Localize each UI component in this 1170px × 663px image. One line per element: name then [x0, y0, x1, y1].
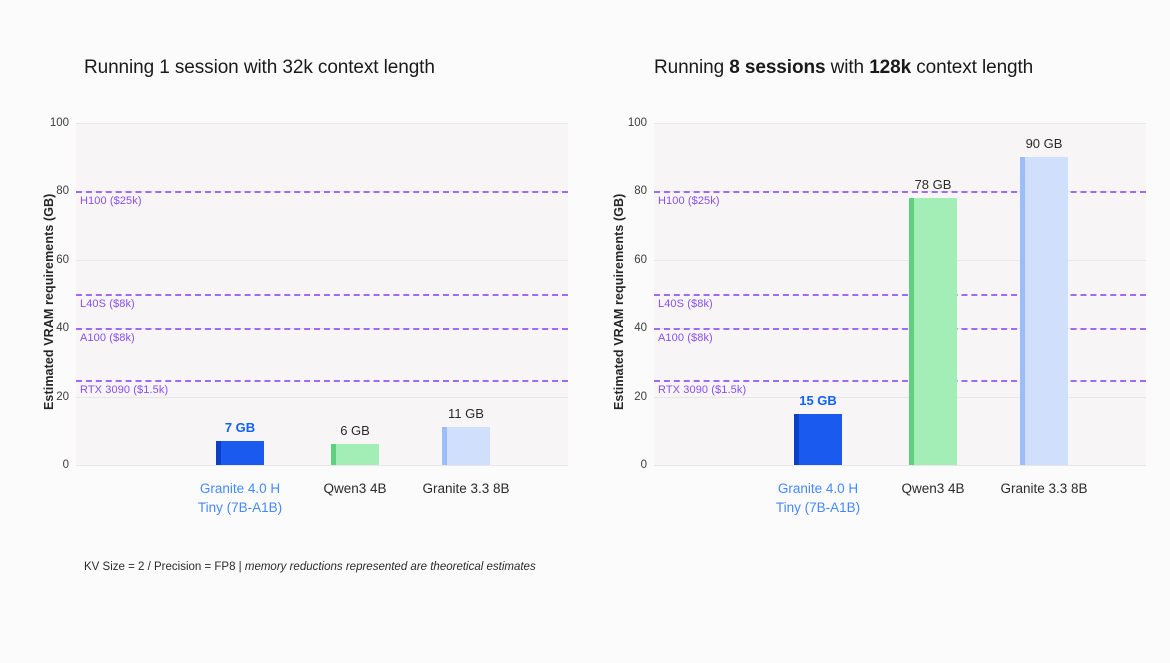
reference-line-label: A100 ($8k) [658, 332, 713, 344]
x-axis-category-line: Qwen3 4B [323, 481, 386, 496]
y-axis-tick: 60 [634, 254, 647, 266]
reference-line [76, 294, 568, 296]
footnote-italic: memory reductions represented are theore… [245, 561, 536, 573]
bar-fill [442, 427, 490, 465]
y-axis-label-right: Estimated VRAM requirements (GB) [612, 194, 626, 410]
x-axis-category-label: Granite 3.3 8B [1000, 479, 1087, 498]
reference-line-label: RTX 3090 ($1.5k) [80, 384, 168, 396]
gridline: 0 [76, 465, 568, 466]
x-axis-category-label: Granite 4.0 HTiny (7B-A1B) [198, 479, 282, 517]
x-axis-category-label: Qwen3 4B [323, 479, 386, 498]
plot-area-left: 020406080100H100 ($25k)L40S ($8k)A100 ($… [76, 123, 568, 465]
bar-value-label: 11 GB [448, 406, 484, 421]
bar-3[interactable]: 90 GBGranite 3.3 8B [1020, 157, 1068, 465]
gridline: 0 [654, 465, 1146, 466]
chart-title-text: 1 session [159, 57, 238, 78]
chart-title-left: Running 1 session with 32k context lengt… [84, 57, 435, 79]
x-axis-category-label: Granite 4.0 HTiny (7B-A1B) [776, 479, 860, 517]
y-axis-tick: 0 [641, 459, 647, 471]
reference-line-label: H100 ($25k) [80, 195, 142, 207]
chart-title-text: with [825, 57, 869, 78]
x-axis-category-line: Granite 3.3 8B [422, 481, 509, 496]
bar-value-label: 78 GB [915, 177, 952, 192]
bar-2[interactable]: 78 GBQwen3 4B [909, 198, 957, 465]
bar-fill [331, 444, 379, 465]
bar-value-label: 90 GB [1026, 136, 1063, 151]
x-axis-category-line: Granite 3.3 8B [1000, 481, 1087, 496]
y-axis-tick: 40 [634, 322, 647, 334]
chart-title-text: with [239, 57, 283, 78]
chart-title-right: Running 8 sessions with 128k context len… [654, 57, 1033, 79]
gridline: 60 [654, 260, 1146, 261]
y-axis-tick: 0 [63, 459, 69, 471]
bar-fill [794, 414, 842, 465]
reference-line-label: L40S ($8k) [658, 298, 713, 310]
gridline: 20 [76, 397, 568, 398]
x-axis-category-line: Tiny (7B-A1B) [776, 500, 860, 515]
chart-title-text: context length [313, 57, 435, 78]
x-axis-category-label: Granite 3.3 8B [422, 479, 509, 498]
x-axis-category-label: Qwen3 4B [901, 479, 964, 498]
gridline: 20 [654, 397, 1146, 398]
bar-1[interactable]: 7 GBGranite 4.0 HTiny (7B-A1B) [216, 441, 264, 465]
chart-title-emphasis: 8 sessions [729, 57, 825, 78]
reference-line [654, 294, 1146, 296]
y-axis-tick: 40 [56, 322, 69, 334]
bar-value-label: 15 GB [799, 393, 837, 408]
footnote-plain: KV Size = 2 / Precision = FP8 | [84, 561, 245, 573]
y-axis-tick: 80 [56, 185, 69, 197]
reference-line [654, 191, 1146, 193]
footnote: KV Size = 2 / Precision = FP8 | memory r… [84, 561, 536, 573]
reference-line [654, 380, 1146, 382]
bar-value-label: 6 GB [340, 423, 370, 438]
bar-2[interactable]: 6 GBQwen3 4B [331, 444, 379, 465]
gridline: 60 [76, 260, 568, 261]
bar-value-label: 7 GB [225, 420, 255, 435]
chart-panel-right: Running 8 sessions with 128k context len… [585, 0, 1170, 663]
reference-line [76, 191, 568, 193]
x-axis-category-line: Tiny (7B-A1B) [198, 500, 282, 515]
y-axis-tick: 60 [56, 254, 69, 266]
y-axis-tick: 20 [56, 391, 69, 403]
bar-3[interactable]: 11 GBGranite 3.3 8B [442, 427, 490, 465]
chart-title-text: 32k [282, 57, 312, 78]
reference-line-label: L40S ($8k) [80, 298, 135, 310]
y-axis-tick: 100 [50, 117, 69, 129]
reference-line [76, 328, 568, 330]
x-axis-category-line: Granite 4.0 H [200, 481, 280, 496]
gridline: 100 [654, 123, 1146, 124]
reference-line [76, 380, 568, 382]
reference-line [654, 328, 1146, 330]
x-axis-category-line: Granite 4.0 H [778, 481, 858, 496]
chart-title-text: context length [911, 57, 1033, 78]
chart-title-text: Running [84, 57, 159, 78]
reference-line-label: H100 ($25k) [658, 195, 720, 207]
plot-area-right: 020406080100H100 ($25k)L40S ($8k)A100 ($… [654, 123, 1146, 465]
bar-fill [216, 441, 264, 465]
x-axis-category-line: Qwen3 4B [901, 481, 964, 496]
y-axis-tick: 20 [634, 391, 647, 403]
reference-line-label: A100 ($8k) [80, 332, 135, 344]
reference-line-label: RTX 3090 ($1.5k) [658, 384, 746, 396]
gridline: 100 [76, 123, 568, 124]
y-axis-tick: 80 [634, 185, 647, 197]
bar-1[interactable]: 15 GBGranite 4.0 HTiny (7B-A1B) [794, 414, 842, 465]
y-axis-label-left: Estimated VRAM requirements (GB) [42, 194, 56, 410]
bar-fill [1020, 157, 1068, 465]
chart-title-emphasis: 128k [869, 57, 911, 78]
y-axis-tick: 100 [628, 117, 647, 129]
chart-title-text: Running [654, 57, 729, 78]
bar-fill [909, 198, 957, 465]
